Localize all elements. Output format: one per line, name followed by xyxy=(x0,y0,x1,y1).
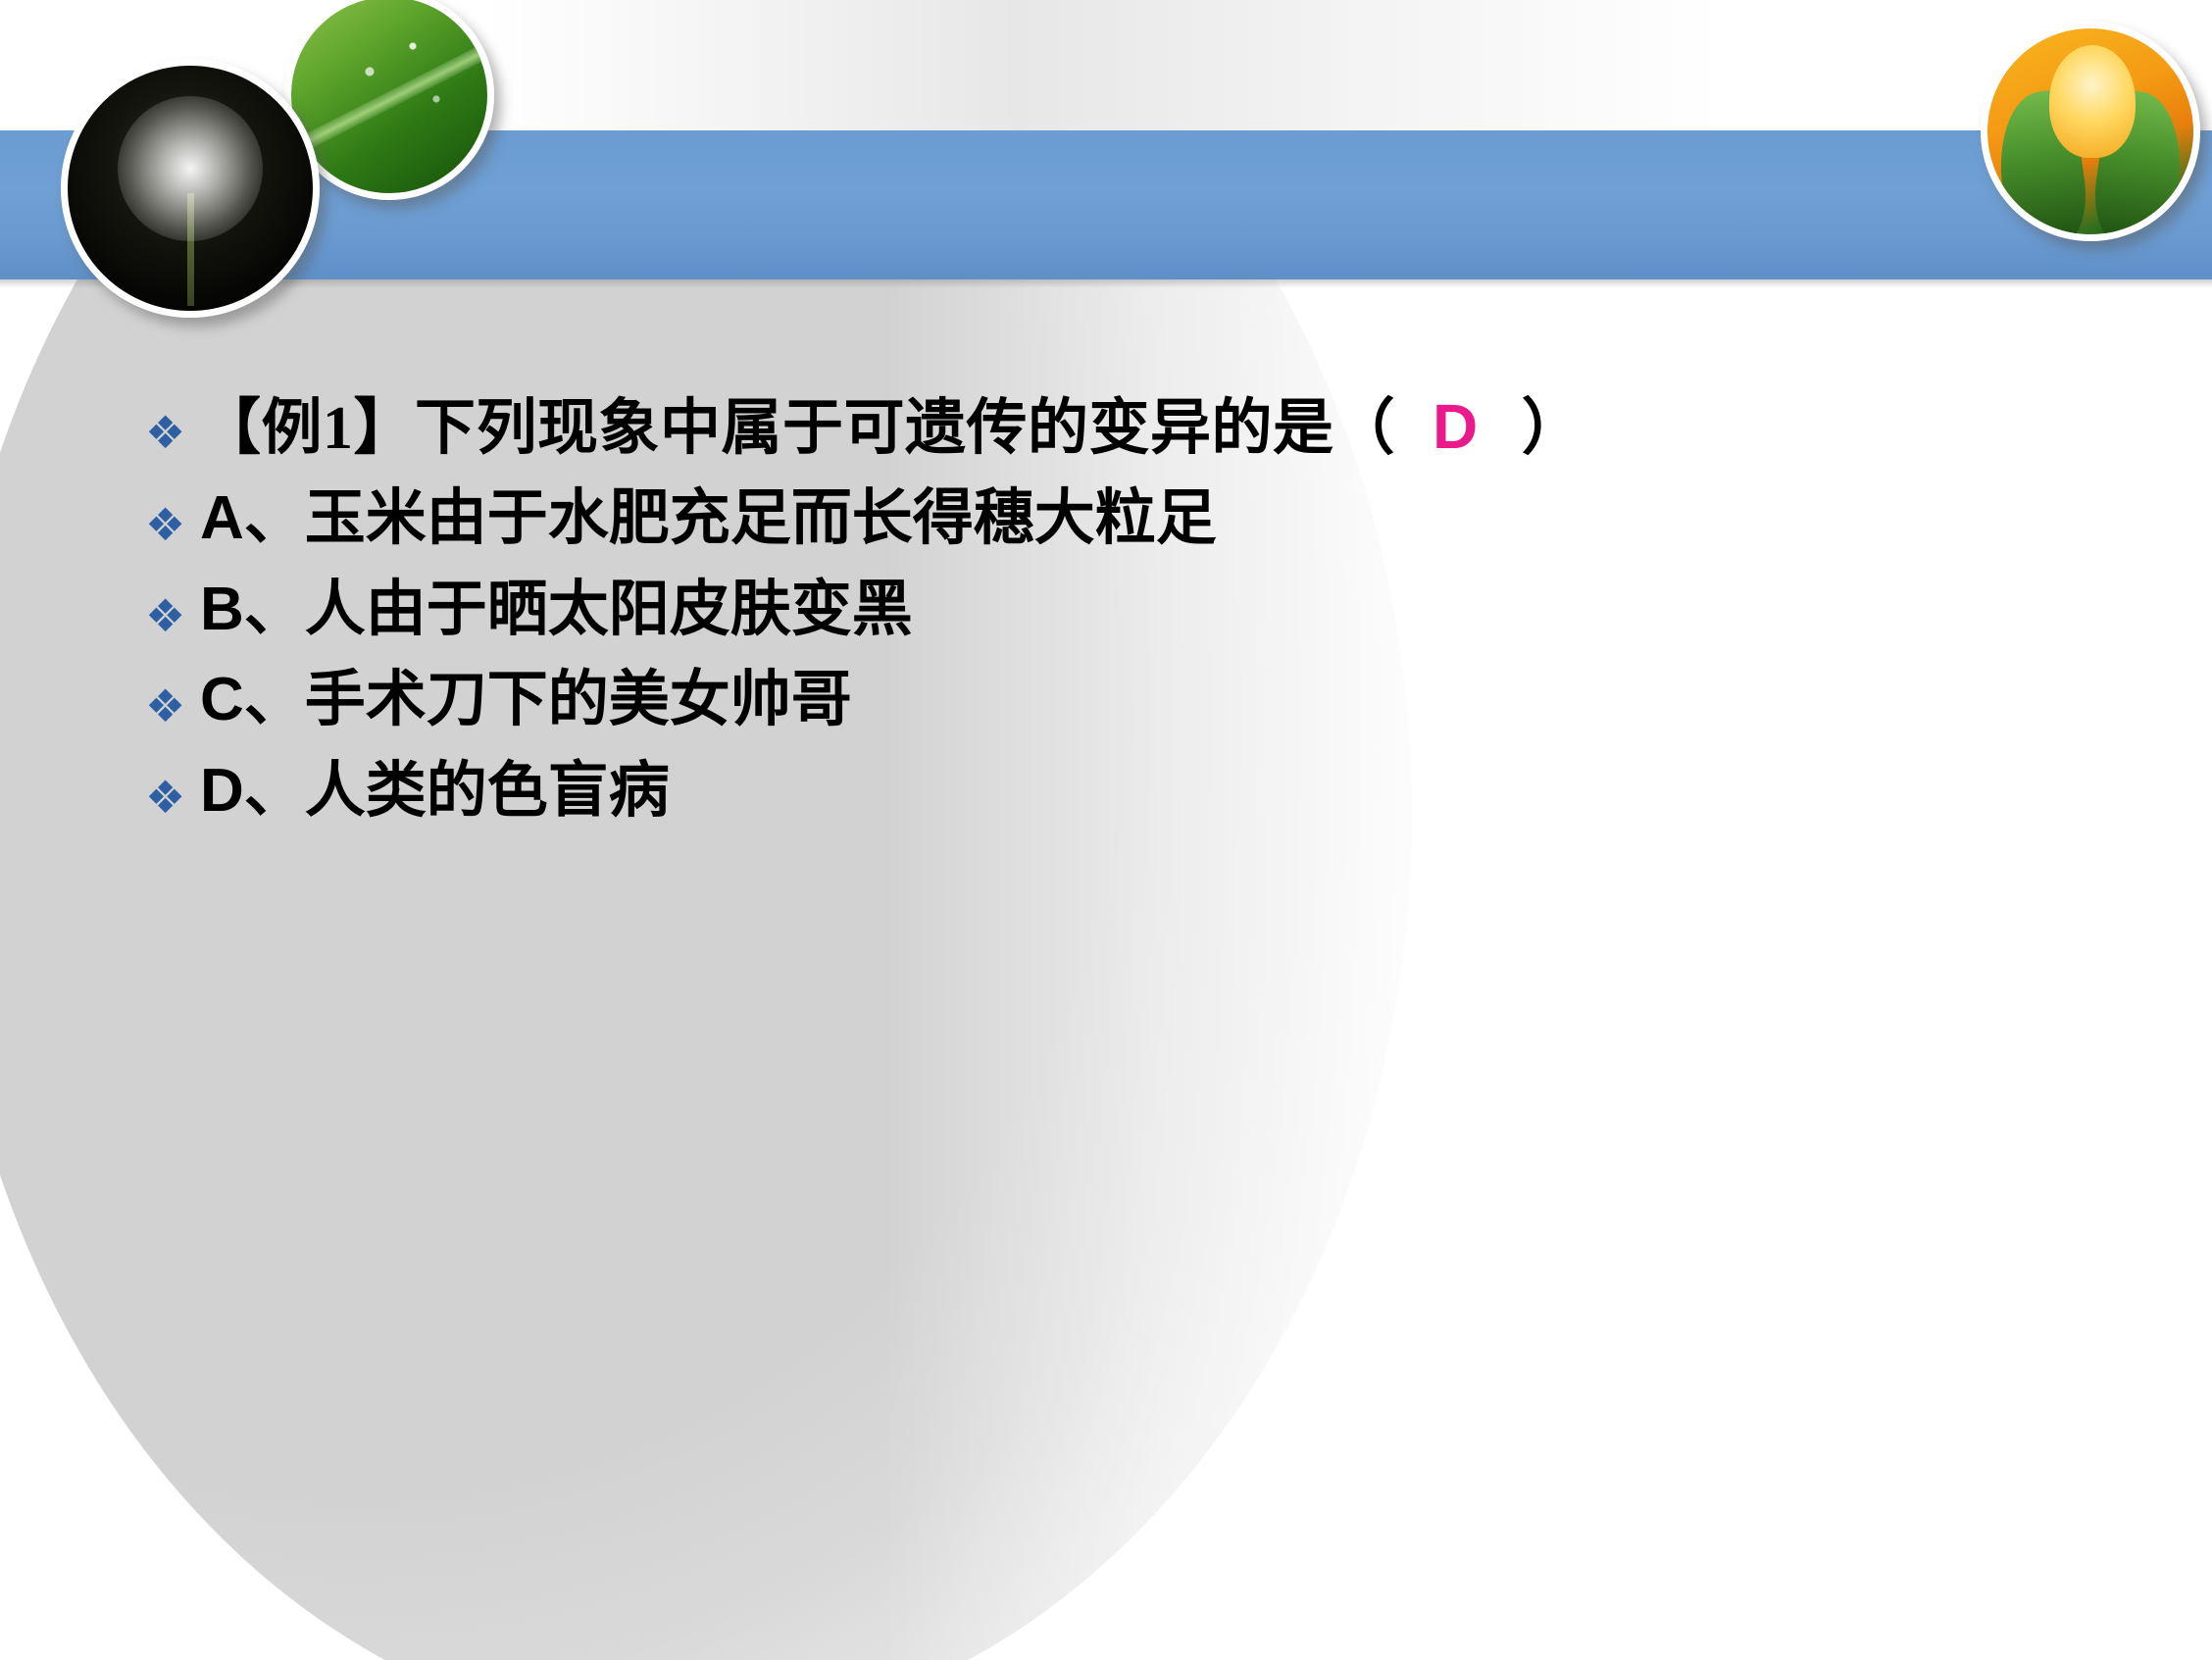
option-letter-b: B xyxy=(200,576,244,643)
header-band-shadow xyxy=(0,279,2212,288)
option-row-a: ❖ A、玉米由于水肥充足而长得穗大粒足 xyxy=(0,484,2212,553)
question-row: ❖ 【例1】下列现象中属于可遗传的变异的是（D） xyxy=(0,392,2212,463)
question-suffix: ） xyxy=(1522,395,1584,462)
bullet-icon: ❖ xyxy=(145,757,200,820)
option-row-b: ❖ B、人由于晒太阳皮肤变黑 xyxy=(0,576,2212,644)
question-prefix: 【例1】下列现象中属于可遗传的变异的是（ xyxy=(200,395,1395,462)
option-letter-c: C xyxy=(200,666,244,733)
option-text-c: C、手术刀下的美女帅哥 xyxy=(200,666,852,734)
dandelion-head xyxy=(118,96,263,241)
option-body-c: 、手术刀下的美女帅哥 xyxy=(244,667,852,733)
dandelion-photo-icon xyxy=(61,59,320,318)
tulip-photo-icon xyxy=(1981,22,2200,241)
option-body-d: 、人类的色盲病 xyxy=(244,758,670,825)
option-body-a: 、玉米由于水肥充足而长得穗大粒足 xyxy=(244,485,1217,552)
option-text-b: B、人由于晒太阳皮肤变黑 xyxy=(200,576,913,644)
option-row-c: ❖ C、手术刀下的美女帅哥 xyxy=(0,666,2212,734)
question-text: 【例1】下列现象中属于可遗传的变异的是（D） xyxy=(200,392,1583,463)
option-row-d: ❖ D、人类的色盲病 xyxy=(0,757,2212,826)
option-letter-a: A xyxy=(200,484,244,552)
option-body-b: 、人由于晒太阳皮肤变黑 xyxy=(244,577,913,643)
tulip-petal xyxy=(2049,45,2136,159)
option-letter-d: D xyxy=(200,757,244,825)
bullet-icon: ❖ xyxy=(145,666,200,729)
header-decoration xyxy=(0,0,2212,294)
option-text-d: D、人类的色盲病 xyxy=(200,757,670,826)
slide: ❖ 【例1】下列现象中属于可遗传的变异的是（D） ❖ A、玉米由于水肥充足而长得… xyxy=(0,0,2212,1660)
bullet-icon: ❖ xyxy=(145,576,200,638)
bullet-icon: ❖ xyxy=(145,484,200,547)
option-text-a: A、玉米由于水肥充足而长得穗大粒足 xyxy=(200,484,1217,553)
answer-letter: D xyxy=(1395,391,1522,462)
slide-content: ❖ 【例1】下列现象中属于可遗传的变异的是（D） ❖ A、玉米由于水肥充足而长得… xyxy=(0,392,2212,847)
bullet-icon: ❖ xyxy=(145,392,200,455)
